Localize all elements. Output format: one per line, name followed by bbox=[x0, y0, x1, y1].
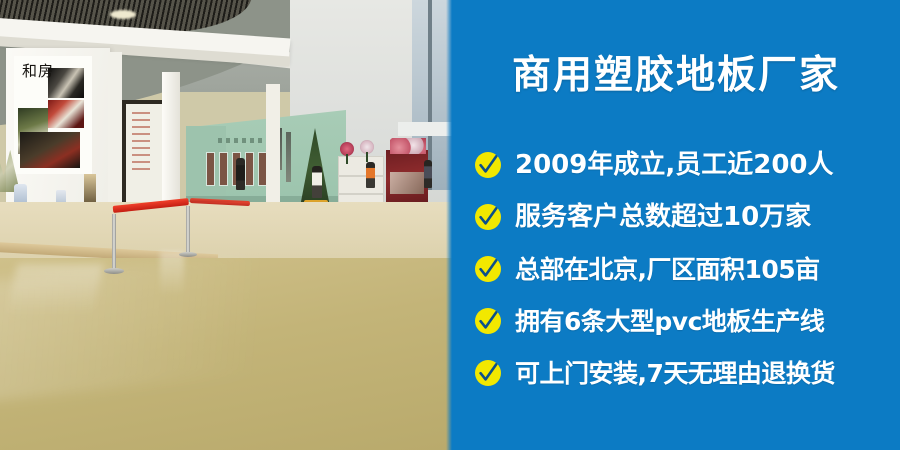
check-circle-icon bbox=[474, 255, 502, 283]
blue-info-panel: 商用塑胶地板厂家 2009年成立,员工近200人 bbox=[452, 0, 900, 450]
feature-list: 2009年成立,员工近200人 服务客户总数超过10万家 bbox=[474, 139, 900, 399]
booth-poster: 和房 bbox=[14, 56, 92, 174]
display-object bbox=[84, 174, 96, 204]
list-item: 2009年成立,员工近200人 bbox=[474, 139, 900, 191]
check-circle-icon bbox=[474, 203, 502, 231]
booth-column-far bbox=[266, 84, 280, 212]
check-circle-icon bbox=[474, 151, 502, 179]
poster-photo bbox=[48, 100, 84, 128]
poster-calligraphy: 和房 bbox=[22, 64, 54, 79]
barrier-post bbox=[186, 206, 190, 254]
list-item-label: 2009年成立,员工近200人 bbox=[515, 152, 834, 178]
floor-reflection bbox=[160, 252, 184, 296]
hanging-scroll bbox=[286, 132, 291, 182]
promo-banner: 和房 bbox=[0, 0, 900, 450]
visitor-figure bbox=[312, 166, 322, 198]
barrier-post-base bbox=[179, 252, 197, 257]
showroom-photo: 和房 bbox=[0, 0, 452, 450]
ceiling-light bbox=[110, 10, 136, 19]
barrier-post-base bbox=[104, 268, 124, 274]
staff-figure bbox=[366, 162, 375, 188]
visitor-figure bbox=[424, 160, 432, 188]
window-sill bbox=[398, 122, 452, 136]
list-item: 拥有6条大型pvc地板生产线 bbox=[474, 295, 900, 347]
list-item: 可上门安装,7天无理由退换货 bbox=[474, 347, 900, 399]
frame bbox=[219, 152, 228, 186]
check-circle-icon bbox=[474, 359, 502, 387]
floor-reflection bbox=[7, 264, 104, 314]
frame bbox=[206, 152, 215, 186]
visitor-figure bbox=[236, 158, 245, 190]
list-item: 总部在北京,厂区面积105亩 bbox=[474, 243, 900, 295]
flower-stem bbox=[366, 152, 368, 162]
flower-stem bbox=[346, 154, 348, 164]
page-title: 商用塑胶地板厂家 bbox=[452, 56, 900, 95]
list-item-label: 总部在北京,厂区面积105亩 bbox=[515, 257, 820, 282]
poster-photo bbox=[20, 132, 80, 168]
flower-arrangement bbox=[390, 138, 426, 154]
list-item-label: 可上门安装,7天无理由退换货 bbox=[515, 361, 835, 386]
frame bbox=[245, 152, 254, 186]
list-item-label: 服务客户总数超过10万家 bbox=[515, 204, 811, 230]
check-circle-icon bbox=[474, 307, 502, 335]
barrier-post bbox=[112, 214, 116, 270]
list-item: 服务客户总数超过10万家 bbox=[474, 191, 900, 243]
list-item-label: 拥有6条大型pvc地板生产线 bbox=[515, 309, 824, 334]
